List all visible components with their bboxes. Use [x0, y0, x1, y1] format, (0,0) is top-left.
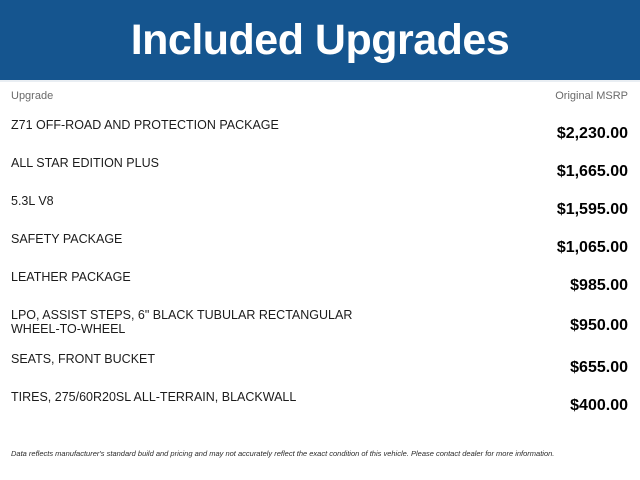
upgrade-label: Z71 OFF-ROAD AND PROTECTION PACKAGE [11, 110, 518, 132]
table-row: SEATS, FRONT BUCKET $655.00 [11, 344, 628, 382]
table-row: TIRES, 275/60R20SL ALL-TERRAIN, BLACKWAL… [11, 382, 628, 420]
upgrade-label: LPO, ASSIST STEPS, 6" BLACK TUBULAR RECT… [11, 300, 518, 336]
upgrade-price: $2,230.00 [518, 110, 628, 142]
upgrade-price: $950.00 [518, 300, 628, 334]
upgrade-label: 5.3L V8 [11, 186, 518, 208]
upgrade-price: $985.00 [518, 262, 628, 294]
upgrade-label: LEATHER PACKAGE [11, 262, 518, 284]
upgrade-label: SAFETY PACKAGE [11, 224, 518, 246]
table-row: SAFETY PACKAGE $1,065.00 [11, 224, 628, 262]
upgrades-table: Upgrade Original MSRP Z71 OFF-ROAD AND P… [0, 82, 640, 446]
disclaimer-text: Data reflects manufacturer's standard bu… [0, 446, 640, 480]
upgrade-price: $400.00 [518, 382, 628, 414]
upgrade-label: ALL STAR EDITION PLUS [11, 148, 518, 170]
table-row: LEATHER PACKAGE $985.00 [11, 262, 628, 300]
table-row: LPO, ASSIST STEPS, 6" BLACK TUBULAR RECT… [11, 300, 628, 344]
table-row: ALL STAR EDITION PLUS $1,665.00 [11, 148, 628, 186]
upgrade-price: $1,665.00 [518, 148, 628, 180]
page-title: Included Upgrades [131, 19, 510, 62]
upgrade-label: SEATS, FRONT BUCKET [11, 344, 518, 366]
column-header-price: Original MSRP [555, 91, 628, 102]
upgrade-price: $655.00 [518, 344, 628, 376]
table-row: Z71 OFF-ROAD AND PROTECTION PACKAGE $2,2… [11, 110, 628, 148]
page-banner: Included Upgrades [0, 0, 640, 80]
column-header-upgrade: Upgrade [11, 91, 53, 102]
upgrade-label: TIRES, 275/60R20SL ALL-TERRAIN, BLACKWAL… [11, 382, 518, 404]
upgrade-price: $1,065.00 [518, 224, 628, 256]
upgrade-price: $1,595.00 [518, 186, 628, 218]
table-row: 5.3L V8 $1,595.00 [11, 186, 628, 224]
table-header-row: Upgrade Original MSRP [11, 82, 628, 110]
included-upgrades-page: Included Upgrades Upgrade Original MSRP … [0, 0, 640, 480]
table-body: Z71 OFF-ROAD AND PROTECTION PACKAGE $2,2… [11, 110, 628, 446]
